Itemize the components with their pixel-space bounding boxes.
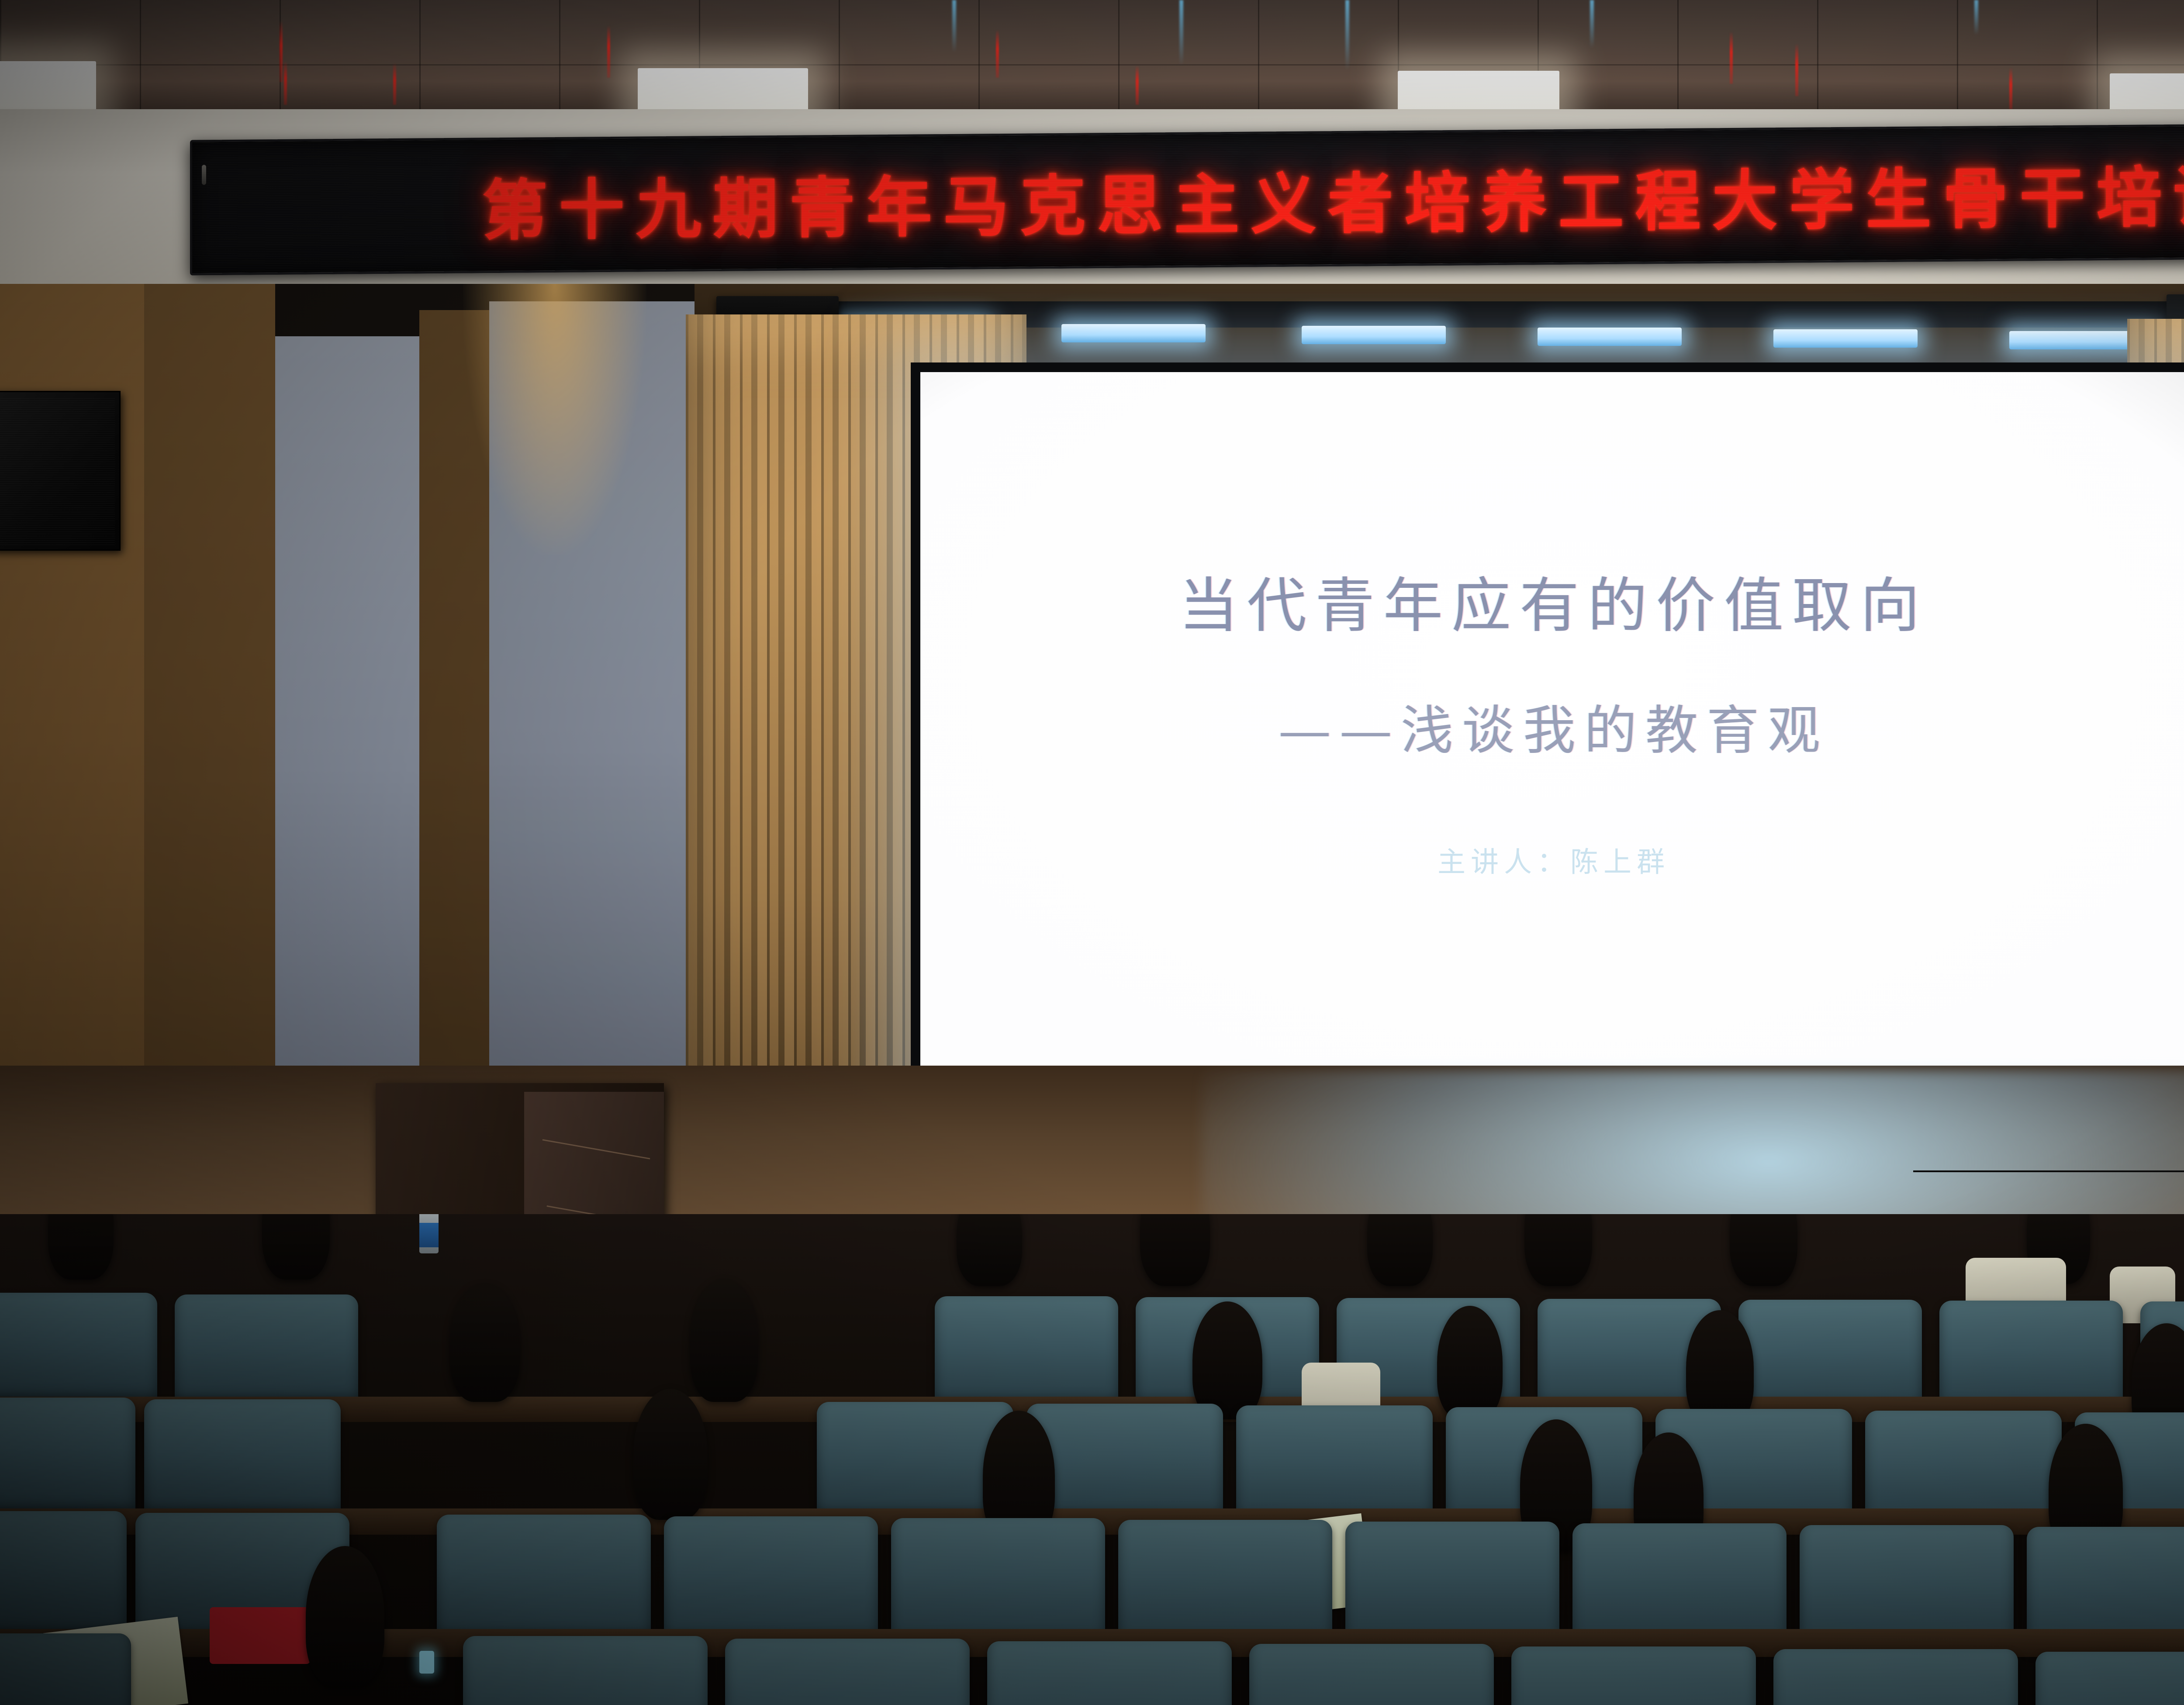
led-banner-text: 第十九期青年马克思主义者培养工程大学生骨干培训班专题报告: [192, 139, 2184, 255]
audience-head: [1140, 1214, 1210, 1286]
auditorium-seat[interactable]: [664, 1516, 878, 1641]
ceiling-blue-reflection: [1974, 0, 1978, 35]
audience-head: [306, 1546, 384, 1686]
ceiling-red-reflection: [996, 30, 999, 78]
led-banner: 第十九期青年马克思主义者培养工程大学生骨干培训班专题报告: [190, 118, 2184, 275]
audience-head: [1524, 1214, 1592, 1286]
auditorium-seat[interactable]: [1738, 1300, 1922, 1409]
auditorium-seat[interactable]: [437, 1515, 651, 1639]
ceiling-red-reflection: [1136, 66, 1139, 105]
audience-head: [957, 1214, 1022, 1286]
ceiling-red-reflection: [1730, 31, 1733, 84]
auditorium-seat[interactable]: [0, 1633, 131, 1705]
ceiling-red-reflection: [607, 25, 610, 78]
stage-light-bar: [1538, 328, 1682, 346]
ceiling-blue-reflection: [1345, 0, 1349, 70]
slide-subtitle: ——浅谈我的教育观: [920, 688, 2184, 764]
projection-screen-frame: 当代青年应有的价值取向 ——浅谈我的教育观 主讲人：陈上群: [911, 362, 2184, 1124]
speaker-grille: [0, 397, 115, 545]
auditorium-seat[interactable]: [0, 1293, 157, 1402]
wall-speaker-left: [0, 391, 121, 551]
audience-seating: [0, 1214, 2184, 1705]
auditorium-seat[interactable]: [1511, 1646, 1756, 1705]
auditorium-seat[interactable]: [1236, 1405, 1433, 1521]
audience-head: [48, 1214, 114, 1280]
audience-head: [633, 1389, 708, 1520]
auditorium-seat[interactable]: [1939, 1301, 2123, 1410]
photo-scene: 第十九期青年马克思主义者培养工程大学生骨干培训班专题报告: [0, 0, 2184, 1705]
ceiling-red-reflection: [280, 21, 283, 82]
audience-head: [1437, 1306, 1503, 1419]
auditorium-seat[interactable]: [891, 1518, 1105, 1643]
auditorium-seat[interactable]: [0, 1398, 135, 1513]
auditorium-seat[interactable]: [725, 1639, 970, 1705]
auditorium-seat[interactable]: [175, 1294, 358, 1404]
ceiling-blue-reflection: [952, 0, 956, 52]
auditorium-seat[interactable]: [935, 1296, 1118, 1405]
auditorium-seat[interactable]: [2035, 1652, 2184, 1705]
slide-speaker-line: 主讲人：陈上群: [920, 840, 2184, 880]
audience-head: [690, 1280, 758, 1402]
stage-light-bar: [1302, 326, 1446, 344]
ceiling-red-reflection: [1795, 44, 1798, 96]
auditorium-seat[interactable]: [1118, 1520, 1332, 1644]
auditorium-seat[interactable]: [144, 1399, 341, 1515]
auditorium-seat[interactable]: [1026, 1404, 1223, 1519]
audience-bottle-label: [419, 1223, 439, 1247]
ceiling-blue-reflection: [1179, 0, 1183, 66]
ceiling-red-reflection: [2009, 68, 2012, 109]
audience-head: [262, 1214, 330, 1280]
auditorium-seat[interactable]: [0, 1511, 127, 1636]
ceiling-red-reflection: [284, 61, 287, 105]
auditorium-seat[interactable]: [1773, 1649, 2018, 1705]
slide-title: 当代青年应有的价值取向: [920, 558, 2184, 644]
stage-light-bar: [1773, 329, 1918, 348]
ceiling-red-reflection: [393, 63, 396, 105]
auditorium-seat[interactable]: [463, 1636, 708, 1705]
stage-light-bar: [1061, 324, 1206, 342]
auditorium-seat[interactable]: [1345, 1522, 1559, 1646]
audience-red-item: [210, 1607, 310, 1664]
projection-screen: 当代青年应有的价值取向 ——浅谈我的教育观 主讲人：陈上群: [920, 372, 2184, 1115]
audience-head: [1730, 1214, 1797, 1286]
audience-phone-screen: [419, 1651, 434, 1674]
auditorium-seat[interactable]: [987, 1641, 1232, 1705]
auditorium-seat[interactable]: [1249, 1644, 1494, 1705]
audience-head: [1367, 1214, 1433, 1286]
audience-head: [450, 1284, 520, 1402]
ceiling-blue-reflection: [1590, 0, 1594, 48]
audience-head: [1192, 1301, 1262, 1419]
